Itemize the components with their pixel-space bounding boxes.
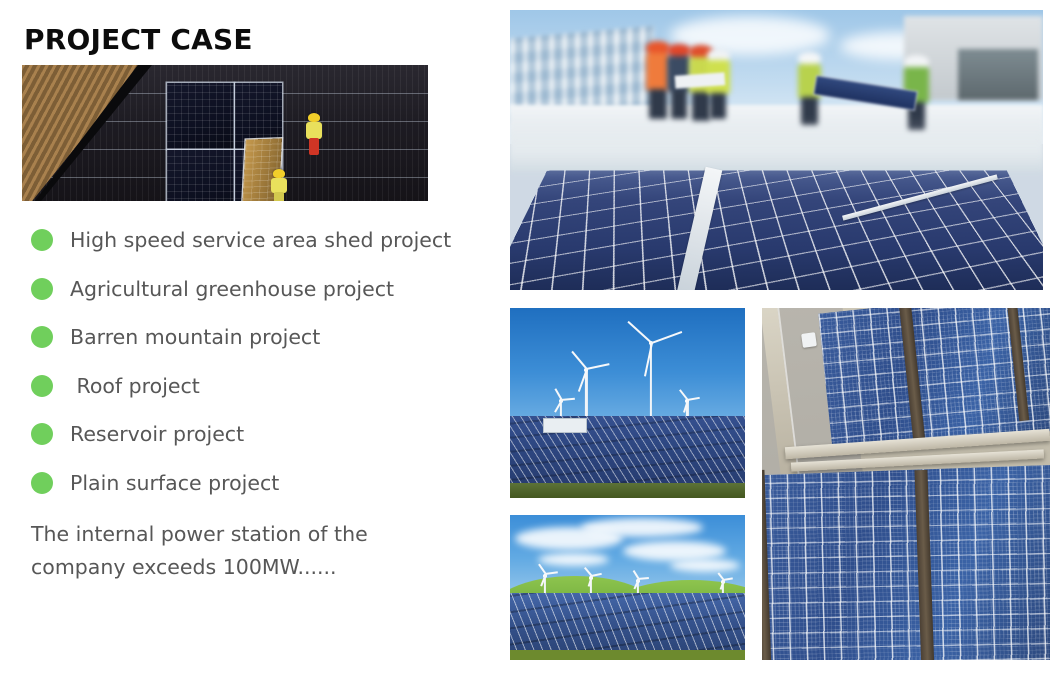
residential-roof-solar-installation-photo <box>22 65 428 201</box>
cloud <box>538 553 609 566</box>
panel-glare <box>510 116 1043 178</box>
hard-hat <box>798 52 821 64</box>
green-hills-solar-and-wind-photo <box>510 515 745 660</box>
cloud <box>581 518 703 537</box>
green-dot-bullet-icon <box>31 472 53 494</box>
list-item[interactable]: Roof project <box>0 362 500 411</box>
rooftop-solar-array-section <box>762 465 1050 660</box>
worker-legs <box>710 93 726 120</box>
white-car <box>801 332 817 348</box>
green-dot-bullet-icon <box>31 326 53 348</box>
turbine-blade <box>561 398 574 401</box>
list-item-label: Plain surface project <box>70 471 279 495</box>
list-item-label: Reservoir project <box>70 422 244 446</box>
wind-turbine <box>571 354 602 426</box>
list-item-label: High speed service area shed project <box>70 228 451 252</box>
wind-turbine <box>632 319 670 425</box>
turbine-blade <box>572 351 588 370</box>
sky <box>510 308 745 426</box>
turbine-blade <box>546 572 558 575</box>
hard-hat <box>667 44 690 57</box>
grass-strip <box>510 483 745 498</box>
roof-worker <box>269 169 289 201</box>
site-building <box>543 418 587 433</box>
page-title: PROJECT CASE <box>24 23 253 56</box>
hi-vis-vest <box>306 122 322 139</box>
background-building <box>958 49 1038 99</box>
worker-legs <box>274 192 284 201</box>
list-item[interactable]: Barren mountain project <box>0 313 500 362</box>
list-item[interactable]: Agricultural greenhouse project <box>0 265 500 314</box>
cloud <box>670 559 741 572</box>
commercial-rooftop-solar-installation-photo <box>510 10 1043 290</box>
solar-panel-module <box>167 83 234 149</box>
hard-hat <box>308 113 320 122</box>
green-dot-bullet-icon <box>31 423 53 445</box>
aerial-industrial-rooftop-array-photo <box>762 308 1050 660</box>
turbine-blade <box>723 578 732 581</box>
turbine-blade <box>639 577 649 580</box>
roof-worker <box>304 113 324 155</box>
list-item-label: Agricultural greenhouse project <box>70 277 394 301</box>
project-list: High speed service area shed project Agr… <box>0 216 500 507</box>
left-content-column: PROJECT CASE High speed service area she <box>0 0 500 689</box>
panel-cell-grid <box>762 465 1050 660</box>
worker-legs <box>649 89 667 119</box>
list-item[interactable]: High speed service area shed project <box>0 216 500 265</box>
hard-hat <box>904 55 929 68</box>
green-dot-bullet-icon <box>31 375 53 397</box>
worker-legs <box>671 90 688 119</box>
list-item-label: Barren mountain project <box>70 325 320 349</box>
solar-panel-module <box>167 150 234 201</box>
green-dot-bullet-icon <box>31 229 53 251</box>
hard-hat <box>707 49 729 61</box>
summary-paragraph: The internal power station of the compan… <box>31 518 451 584</box>
hard-hat <box>273 169 285 178</box>
list-item[interactable]: Reservoir project <box>0 410 500 459</box>
list-item[interactable]: Plain surface project <box>0 459 500 508</box>
worker-legs <box>309 138 319 155</box>
list-item-label: Roof project <box>70 374 200 398</box>
wind-turbines-over-solar-farm-photo <box>510 308 745 498</box>
turbine-blade <box>688 397 700 401</box>
turbine-blade <box>628 321 653 344</box>
hi-vis-vest <box>271 178 287 193</box>
green-dot-bullet-icon <box>31 278 53 300</box>
grass-strip <box>510 650 745 660</box>
turbine-blade <box>592 574 602 578</box>
